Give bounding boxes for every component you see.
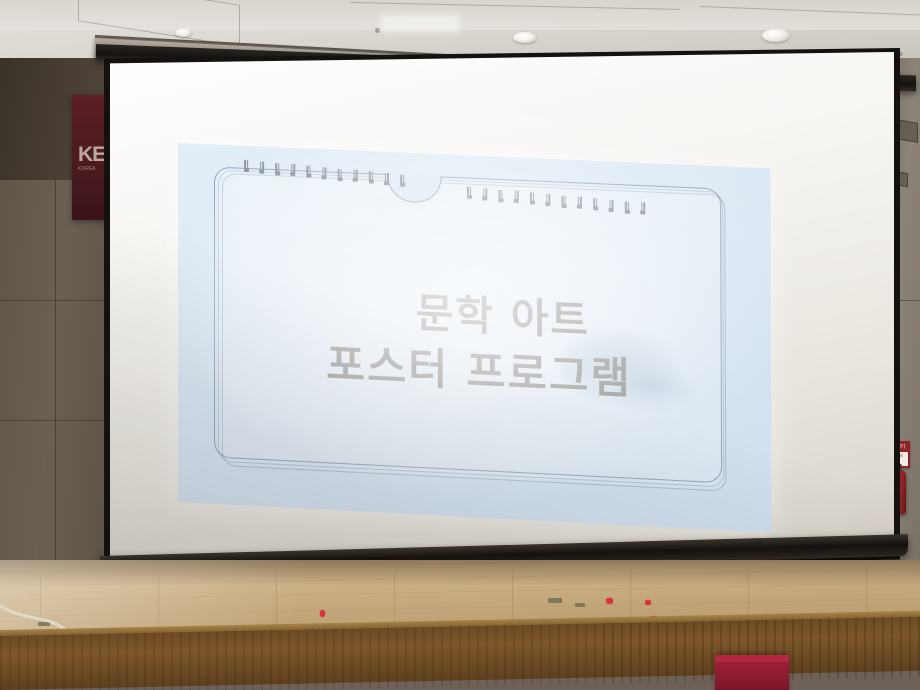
stage-slat (144, 633, 146, 690)
stage-slat (810, 619, 812, 679)
stage-slat (504, 625, 506, 685)
stage-slat (846, 618, 848, 678)
stage-slat (639, 623, 641, 683)
stage-slat (252, 631, 254, 690)
floor-debris-2 (575, 603, 585, 607)
spiral-ring (593, 198, 597, 211)
stage-slat (342, 629, 344, 689)
left-wall-panel (0, 180, 118, 580)
stage-slat (270, 630, 272, 690)
stage-slat (387, 628, 389, 688)
stage-slat (279, 630, 281, 690)
stage-slat (513, 625, 515, 685)
stage-slat (72, 634, 74, 690)
stage-slat (432, 627, 434, 687)
spiral-ring (467, 187, 471, 200)
left-wall-seam-3 (55, 180, 56, 580)
stage-slat (396, 628, 398, 688)
stage-slat (189, 632, 191, 690)
stage-slat (261, 630, 263, 690)
projected-slide: 문학 아트 포스터 프로그램 (178, 143, 772, 533)
stage-slat (909, 617, 911, 677)
stage-slat (153, 633, 155, 690)
spiral-ring (400, 174, 404, 187)
stage-slat (900, 617, 902, 677)
stage-slat (891, 617, 893, 677)
stage-slat (288, 630, 290, 690)
stage-slat (468, 626, 470, 686)
stage-slat (81, 634, 83, 690)
stage-slat (693, 621, 695, 681)
notebook-thumb-notch (387, 174, 442, 204)
stage-slat (162, 633, 164, 690)
stage-slat (180, 632, 182, 690)
stage-slat (18, 636, 20, 690)
spiral-ring (306, 166, 310, 179)
stage-slat (207, 632, 209, 690)
stage-slat (378, 628, 380, 688)
stage-slat (126, 633, 128, 690)
auditorium-scene: KE KOREA 소화기 FIRE 소화기 FIRE (0, 0, 920, 690)
spiral-ring (498, 189, 502, 202)
stage-slat (531, 625, 533, 685)
stage-slat (882, 617, 884, 677)
spiral-ring (353, 170, 357, 183)
confetti-3 (606, 598, 613, 604)
stage-slat (801, 619, 803, 679)
stage-slat (675, 622, 677, 682)
spiral-ring (291, 164, 295, 177)
stage-slat (837, 618, 839, 678)
spiral-ring (514, 191, 518, 204)
stage-slat (630, 623, 632, 683)
stage-slat (351, 629, 353, 689)
stage-slat (621, 623, 623, 683)
stage-slat (99, 634, 101, 690)
ceiling-highlight (380, 15, 460, 33)
floor-debris-3 (38, 622, 50, 626)
stage-slat (414, 627, 416, 687)
stage-slat (819, 619, 821, 679)
stage-slat (135, 633, 137, 690)
stage-slat (540, 625, 542, 685)
stage-slat (585, 624, 587, 684)
stage-slat (0, 636, 2, 690)
stage-slat (324, 629, 326, 689)
stage-slat (63, 635, 65, 690)
stage-slat (864, 618, 866, 678)
stage-slat (450, 627, 452, 687)
stage-slat (306, 630, 308, 690)
confetti-1 (320, 610, 325, 617)
left-wall-seam-2 (0, 420, 118, 421)
stage-slat (198, 632, 200, 690)
spiral-ring (483, 188, 487, 201)
stage-slat (171, 632, 173, 690)
stage-slat (369, 628, 371, 688)
stage-slat (90, 634, 92, 690)
stage-slat (423, 627, 425, 687)
stage-slat (711, 621, 713, 681)
stage-slat (333, 629, 335, 689)
stage-slat (234, 631, 236, 690)
stage-slat (117, 634, 119, 690)
stage-slat (594, 624, 596, 684)
spiral-ring (338, 168, 342, 181)
stage-slat (360, 628, 362, 688)
stage-slat (648, 622, 650, 682)
stage-slat (108, 634, 110, 690)
spiral-ring (322, 167, 326, 180)
stage-slat (441, 627, 443, 687)
stage-slat (702, 621, 704, 681)
stage-slat (54, 635, 56, 690)
spiral-ring (244, 160, 248, 173)
stage-slat (477, 626, 479, 686)
stage-slat (225, 631, 227, 690)
downlight-2 (513, 32, 537, 43)
spiral-ring (275, 163, 279, 176)
spiral-ring (260, 161, 264, 174)
spiral-ring (546, 194, 550, 207)
stage-slat (558, 624, 560, 684)
downlight-3 (762, 29, 790, 42)
stage-slat (45, 635, 47, 690)
stage-slat (36, 635, 38, 690)
downlight-1 (175, 28, 192, 37)
stage-slat (459, 626, 461, 686)
left-wall-seam-1 (0, 300, 118, 301)
stage-slat (216, 631, 218, 690)
stage-slat (666, 622, 668, 682)
floor-debris-1 (548, 598, 562, 603)
stage-slat (549, 624, 551, 684)
spiral-ring (384, 173, 388, 186)
stage-slat (27, 635, 29, 690)
stage-slat (684, 622, 686, 682)
red-stool-top (715, 655, 789, 662)
stage-slat (405, 627, 407, 687)
stage-slat (657, 622, 659, 682)
stage-slat (315, 629, 317, 689)
stage-slat (828, 619, 830, 679)
stage-slat (567, 624, 569, 684)
confetti-4 (645, 600, 651, 605)
spiral-ring (369, 171, 373, 184)
spiral-ring (530, 192, 534, 205)
stage-slat (792, 619, 794, 679)
spiral-ring (609, 200, 613, 213)
stage-slat (495, 626, 497, 686)
stage-slat (9, 636, 11, 690)
spiral-ring (562, 195, 566, 208)
spiral-ring (625, 201, 629, 214)
stage-slat (486, 626, 488, 686)
stage-slat (297, 630, 299, 690)
spiral-ring (577, 197, 581, 210)
stage-slat (522, 625, 524, 685)
red-stool (715, 655, 789, 690)
stage-slat (612, 623, 614, 683)
stage-slat (603, 623, 605, 683)
spiral-ring (641, 203, 645, 216)
stage-slat (576, 624, 578, 684)
stage-slat (855, 618, 857, 678)
stage-slat (873, 618, 875, 678)
stage-slat (243, 631, 245, 690)
